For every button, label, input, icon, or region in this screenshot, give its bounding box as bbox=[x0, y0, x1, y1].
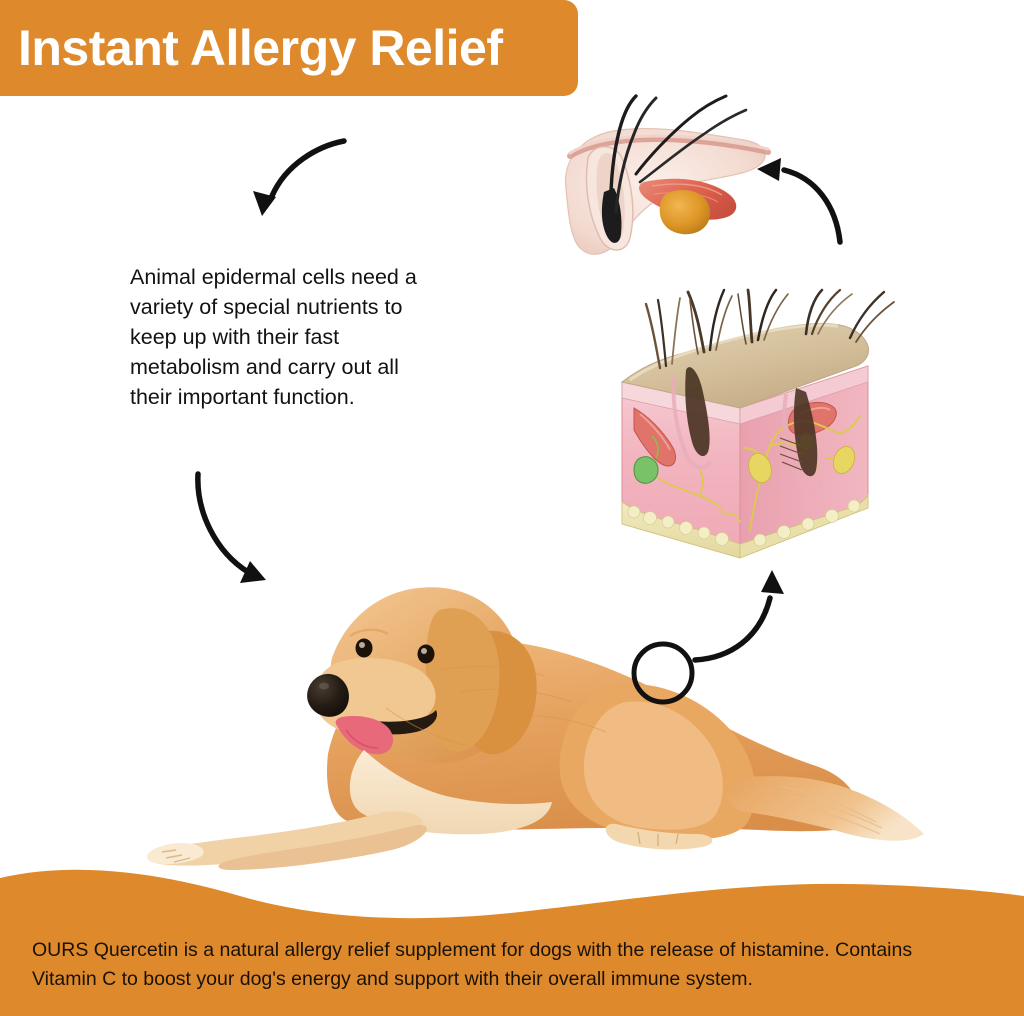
dog-eye-left bbox=[356, 639, 373, 658]
body-copy-text: Animal epidermal cells need a variety of… bbox=[130, 262, 420, 412]
arrow-title-to-text bbox=[253, 141, 344, 216]
sweat-gland bbox=[634, 457, 658, 484]
dog-eye-right bbox=[418, 645, 435, 664]
nose-highlight bbox=[319, 683, 329, 690]
header-banner: Instant Allergy Relief bbox=[0, 0, 578, 96]
page-title: Instant Allergy Relief bbox=[0, 23, 502, 73]
eye-highlight bbox=[359, 642, 365, 648]
footer-description: OURS Quercetin is a natural allergy reli… bbox=[32, 936, 972, 994]
hair-follicle-illustration bbox=[548, 96, 768, 281]
arrow-follicle-from-skin bbox=[757, 158, 840, 242]
sebaceous-gland bbox=[660, 190, 710, 234]
skin-cross-section-illustration bbox=[600, 290, 910, 560]
footer-banner: OURS Quercetin is a natural allergy reli… bbox=[0, 856, 1024, 1016]
dog-illustration bbox=[140, 540, 940, 870]
dog-tail bbox=[727, 776, 924, 841]
eye-highlight bbox=[421, 648, 427, 654]
